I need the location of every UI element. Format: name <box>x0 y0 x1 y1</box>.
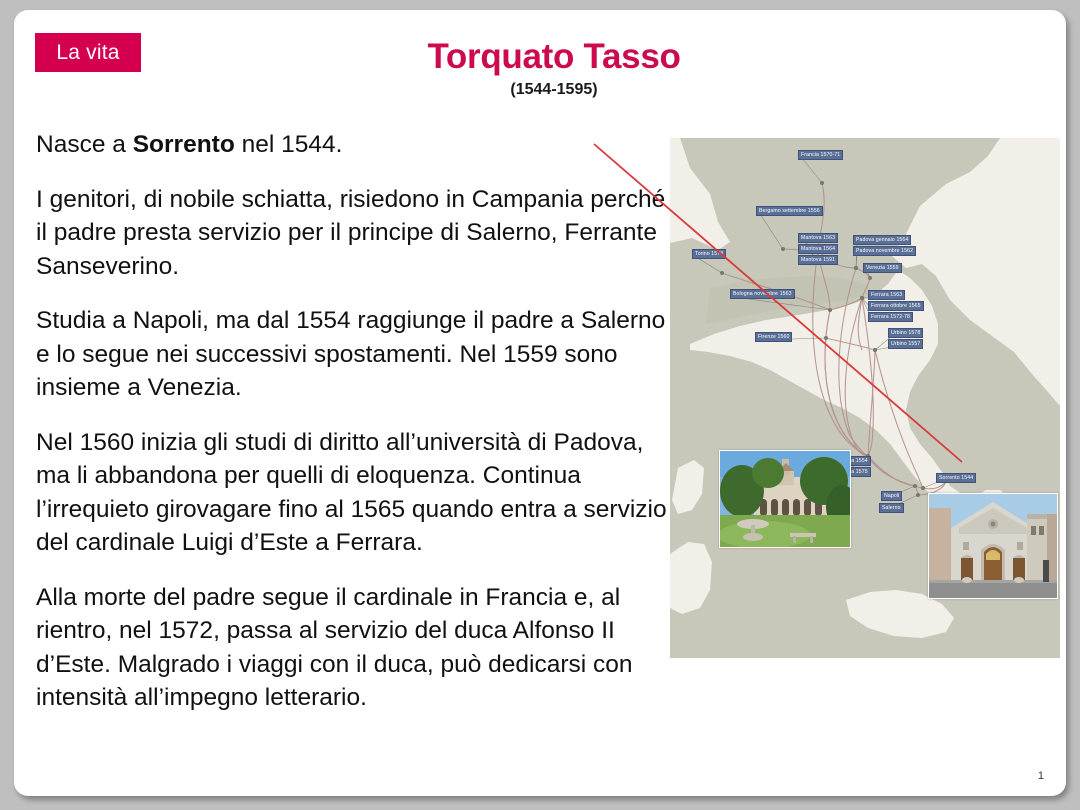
map-label-mantova-1563: Mantova 1563 <box>798 233 838 243</box>
map-label-padova-novembre: Padova novembre 1562 <box>853 246 916 256</box>
body-paragraph-p1: Nasce a Sorrento nel 1544. <box>36 128 676 162</box>
photo-cloister <box>719 450 851 548</box>
map-label-padova-gennaio: Padova gennaio 1564 <box>853 235 911 245</box>
map-label-salerno: Salerno <box>879 503 904 513</box>
body-run: Nasce a <box>36 131 133 158</box>
slide-canvas: La vita Torquato Tasso (1544-1595) Nasce… <box>14 10 1066 796</box>
body-run: I genitori, di nobile schiatta, risiedon… <box>36 186 665 280</box>
map-label-torino: Torino 1578 <box>692 249 726 259</box>
map-label-venezia: Venezia 1559 <box>863 263 902 273</box>
map-panel: Francia 1570-71Bergamo settembre 1556Man… <box>670 138 1060 658</box>
section-tag-la-vita: La vita <box>35 33 141 72</box>
map-label-firenze: Firenze 1560 <box>755 332 792 342</box>
body-paragraph-p4: Nel 1560 inizia gli studi di diritto all… <box>36 426 676 560</box>
title-block: Torquato Tasso (1544-1595) <box>314 36 794 100</box>
body-run: Studia a Napoli, ma dal 1554 raggiunge i… <box>36 307 665 401</box>
map-label-mantova-1591: Mantova 1591 <box>798 255 838 265</box>
body-paragraph-p2: I genitori, di nobile schiatta, risiedon… <box>36 183 676 284</box>
map-label-ferrara-1563: Ferrara 1563 <box>868 290 905 300</box>
title-dates: (1544-1595) <box>314 80 794 100</box>
body-text: Nasce a Sorrento nel 1544.I genitori, di… <box>36 128 676 715</box>
body-paragraph-p5: Alla morte del padre segue il cardinale … <box>36 581 676 715</box>
map-label-bergamo: Bergamo settembre 1556 <box>756 206 823 216</box>
body-emphasis: Sorrento <box>133 131 235 158</box>
body-run: Alla morte del padre segue il cardinale … <box>36 584 633 712</box>
page-number: 1 <box>1038 770 1044 782</box>
map-label-bologna: Bologna novembre 1563 <box>730 289 795 299</box>
map-label-francia: Francia 1570-71 <box>798 150 843 160</box>
body-paragraph-p3: Studia a Napoli, ma dal 1554 raggiunge i… <box>36 304 676 405</box>
map-label-urbino-1578: Urbino 1578 <box>888 328 923 338</box>
map-label-sorrento: Sorrento 1544 <box>936 473 976 483</box>
map-label-mantova-1564: Mantova 1564 <box>798 244 838 254</box>
body-run: Nel 1560 inizia gli studi di diritto all… <box>36 429 667 557</box>
map-label-urbino-1557: Urbino 1557 <box>888 339 923 349</box>
map-label-napoli: Napoli <box>881 491 902 501</box>
body-run: nel 1544. <box>235 131 343 158</box>
map-label-ferrara-ottobre: Ferrara ottobre 1565 <box>868 301 924 311</box>
map-label-ferrara-1572: Ferrara 1572-78 <box>868 312 913 322</box>
photo-cathedral <box>928 493 1058 599</box>
page-title: Torquato Tasso <box>314 36 794 78</box>
